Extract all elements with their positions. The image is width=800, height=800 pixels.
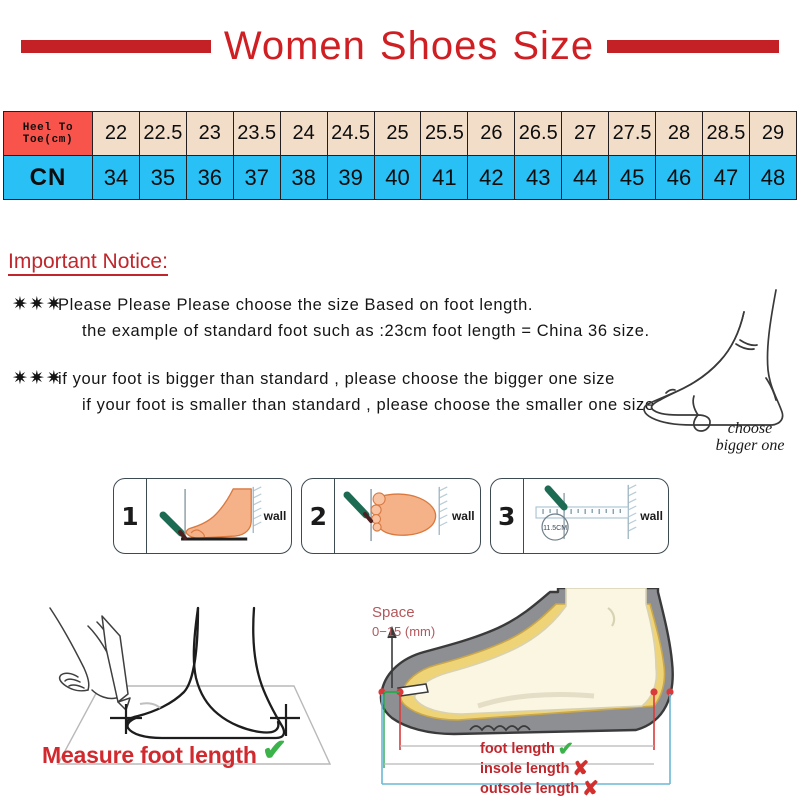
table-row-cn: CN 34 35 36 37 38 39 40 41 42 43 44 45 4… [4,156,797,200]
wall-label: wall [452,509,475,523]
table-cell-cn: 41 [421,156,468,200]
important-notice-heading: Important Notice: [8,250,168,276]
length-legend: foot length ✔ insole length ✘ outsole le… [480,740,720,799]
table-cell-cm: 24.5 [327,112,374,156]
table-cell-cn: 44 [562,156,609,200]
cross-mark-icon: ✘ [582,779,599,799]
table-cell-cm: 22.5 [139,112,186,156]
step-illustration-top-foot: wall [335,479,479,553]
measurement-steps: 1 wall 2 [113,478,669,554]
table-cell-cm: 28.5 [702,112,749,156]
table-cell-cm: 26.5 [515,112,562,156]
table-row-heel-to-toe: Heel To Toe(cm) 22 22.5 23 23.5 24 24.5 … [4,112,797,156]
title-rule-left [21,40,211,53]
measure-foot-length-label: Measure foot length [42,742,257,769]
step-illustration-ruler: 11.5CM wall [524,479,668,553]
asterisk-icon: ✷✷✷ [12,292,58,344]
notice-line: if your foot is bigger than standard , p… [58,366,672,392]
foot-caption-line-2: bigger one [690,437,800,454]
step-box-2: 2 wall [301,478,480,554]
table-cell-cn: 47 [702,156,749,200]
notice-line: Please Please Please choose the size Bas… [58,292,672,318]
legend-label: insole length [480,760,569,779]
table-cell-cn: 43 [515,156,562,200]
check-mark-icon: ✔ [262,736,287,766]
notice-line: the example of standard foot such as :23… [58,318,672,344]
table-cell-cm: 22 [93,112,140,156]
title-word-1: Women [217,24,373,68]
table-cell-cm: 25.5 [421,112,468,156]
title-word-3: Size [505,24,601,68]
asterisk-icon: ✷✷✷ [12,366,58,418]
table-cell-cn: 37 [233,156,280,200]
ruler-value: 11.5CM [543,525,567,532]
step-box-3: 3 [490,478,669,554]
title-word-2: Shoes [373,24,505,68]
table-cell-cm: 29 [749,112,796,156]
table-cell-cm: 23 [186,112,233,156]
table-cell-cn: 39 [327,156,374,200]
space-annotation: Space 0−15 (mm) [372,603,435,641]
foot-caption-line-1: choose [690,420,800,437]
foot-art-caption: choose bigger one [690,420,800,454]
legend-label: foot length [480,740,555,759]
title-text: WomenShoesSize [211,26,607,66]
table-cell-cn: 36 [186,156,233,200]
step-number: 2 [302,479,335,553]
step-illustration-side-foot: wall [147,479,291,553]
legend-row-outsole-length: outsole length ✘ [480,779,720,799]
notice-block: ✷✷✷ Please Please Please choose the size… [12,292,672,440]
table-cell-cm: 24 [280,112,327,156]
legend-row-foot-length: foot length ✔ [480,740,720,759]
table-cell-cn: 42 [468,156,515,200]
table-cell-cm: 27.5 [609,112,656,156]
wall-label: wall [264,509,287,523]
table-cell-cn: 45 [609,156,656,200]
table-cell-cn: 40 [374,156,421,200]
table-cell-cn: 35 [139,156,186,200]
table-cell-cn: 38 [280,156,327,200]
space-label-text: Space [372,603,435,622]
table-cell-cm: 23.5 [233,112,280,156]
notice-line: if your foot is smaller than standard , … [58,392,672,418]
step-box-1: 1 wall [113,478,292,554]
notice-paragraph-2: ✷✷✷ if your foot is bigger than standard… [12,366,672,418]
row-label-heel-to-toe: Heel To Toe(cm) [4,112,93,156]
wall-label: wall [640,509,663,523]
table-cell-cm: 26 [468,112,515,156]
table-cell-cm: 28 [656,112,703,156]
table-cell-cm: 27 [562,112,609,156]
notice-paragraph-1: ✷✷✷ Please Please Please choose the size… [12,292,672,344]
legend-label: outsole length [480,780,579,799]
page-title: WomenShoesSize [0,18,800,74]
title-rule-right [607,40,779,53]
cross-mark-icon: ✘ [572,759,589,779]
size-conversion-table: Heel To Toe(cm) 22 22.5 23 23.5 24 24.5 … [3,111,797,200]
table-cell-cm: 25 [374,112,421,156]
step-number: 1 [114,479,147,553]
space-value-text: 0−15 (mm) [372,622,435,641]
step-number: 3 [491,479,524,553]
table-cell-cn: 34 [93,156,140,200]
legend-row-insole-length: insole length ✘ [480,759,720,779]
table-cell-cn: 46 [656,156,703,200]
check-mark-icon: ✔ [558,740,574,759]
table-cell-cn: 48 [749,156,796,200]
row-label-cn: CN [4,156,93,200]
